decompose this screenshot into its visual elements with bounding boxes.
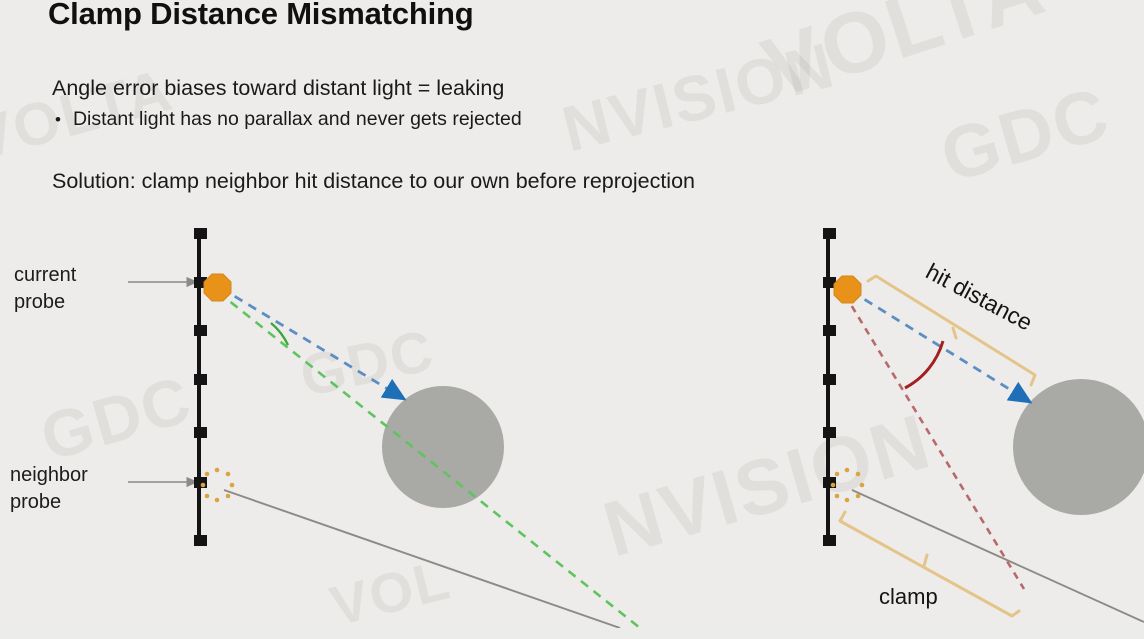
wall-tick bbox=[823, 325, 836, 336]
neighbor-probe-ray bbox=[224, 490, 620, 628]
wall-tick bbox=[194, 535, 207, 546]
wall-tick bbox=[823, 228, 836, 239]
watermark-text: VOLTA bbox=[752, 0, 1057, 119]
watermark-text: NVISION bbox=[594, 396, 941, 576]
label-hit-distance: hit distance bbox=[921, 258, 1036, 336]
label-neighbor-probe: neighbor probe bbox=[10, 462, 88, 516]
bullet-dot-icon: • bbox=[55, 111, 61, 128]
solution-line: Solution: clamp neighbor hit distance to… bbox=[52, 169, 695, 194]
label-current-probe: current probe bbox=[14, 262, 76, 316]
occluder-sphere bbox=[1013, 379, 1144, 515]
occluder-sphere bbox=[382, 386, 504, 508]
bullet-item: • Distant light has no parallax and neve… bbox=[55, 108, 522, 131]
wall-tick bbox=[194, 325, 207, 336]
watermark-text: VOL bbox=[324, 546, 457, 638]
angle-arc bbox=[905, 341, 943, 388]
left-diagram-group bbox=[128, 228, 640, 628]
neighbor-probe-marker bbox=[201, 468, 235, 503]
watermark-text: GDC bbox=[295, 317, 441, 411]
angle-error-arc bbox=[271, 323, 288, 345]
wall-tick bbox=[194, 374, 207, 385]
biased-direction-ray bbox=[221, 288, 396, 394]
neighbor-probe-marker bbox=[831, 468, 865, 503]
current-probe-marker bbox=[204, 274, 231, 301]
label-clamp: clamp bbox=[879, 584, 938, 610]
current-probe-marker bbox=[834, 276, 861, 303]
wall-tick bbox=[194, 228, 207, 239]
clamped-direction-ray bbox=[845, 295, 1024, 589]
wall-tick bbox=[194, 277, 207, 288]
lead-line: Angle error biases toward distant light … bbox=[52, 76, 504, 101]
wall-tick bbox=[823, 277, 836, 288]
true-direction-ray bbox=[218, 292, 640, 628]
watermark-text: NVISION bbox=[555, 28, 842, 167]
wall-tick bbox=[823, 374, 836, 385]
wall-tick bbox=[194, 477, 207, 488]
slide-title: Clamp Distance Mismatching bbox=[48, 0, 473, 32]
wall-tick bbox=[194, 427, 207, 438]
wall-tick bbox=[823, 535, 836, 546]
bullet-text: Distant light has no parallax and never … bbox=[73, 108, 522, 131]
watermark-text: GDC bbox=[932, 70, 1119, 199]
slide-canvas: VOLTA NVISION GDC VOLTA GDC NVISION GDC … bbox=[0, 0, 1144, 628]
wall-tick bbox=[823, 427, 836, 438]
wall-tick bbox=[823, 477, 836, 488]
watermark-text: GDC bbox=[32, 360, 200, 475]
